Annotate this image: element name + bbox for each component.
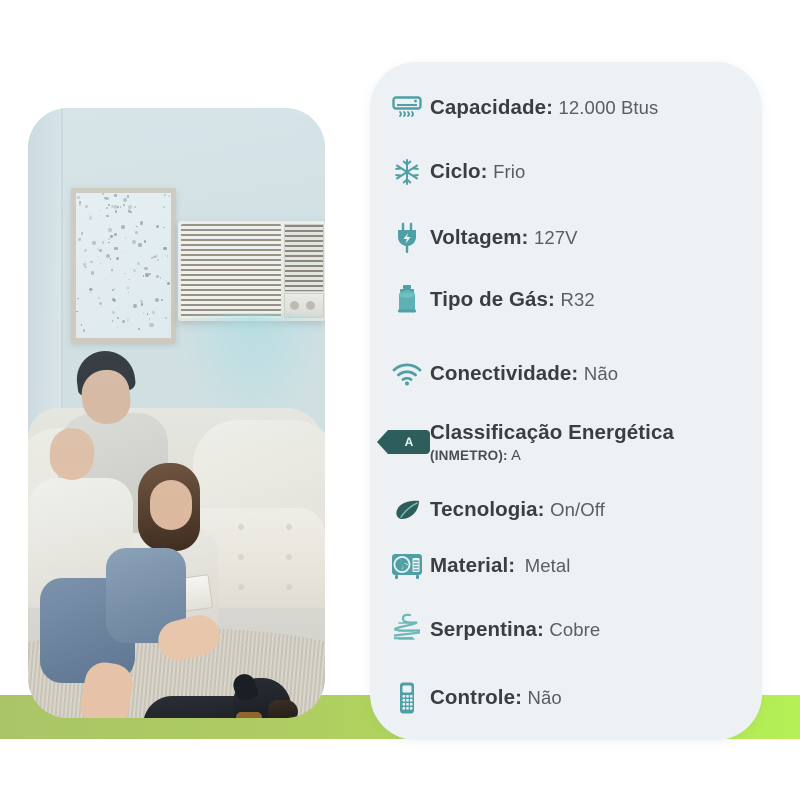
spec-text: Tipo de Gás: R32 — [430, 287, 595, 313]
dog-tan-marking — [236, 712, 262, 718]
spec-label: Ciclo: — [430, 160, 488, 183]
ac-knob-right — [306, 301, 315, 310]
spec-value: Cobre — [549, 619, 600, 640]
dog-snout — [268, 700, 298, 718]
spec-text: Conectividade: Não — [430, 361, 618, 387]
gas-cylinder-icon — [384, 280, 430, 320]
spec-subvalue: A — [511, 448, 521, 464]
power-plug-icon — [384, 218, 430, 258]
spec-sublabel-row: (INMETRO): A — [430, 447, 674, 465]
spec-row-tipo-de-gas: Tipo de Gás: R32 — [384, 280, 756, 320]
spec-label: Controle: — [430, 686, 522, 709]
specifications-list: Capacidade: 12.000 Btus — [370, 62, 762, 740]
energy-badge: A — [388, 430, 430, 454]
spec-row-conectividade: Conectividade: Não — [384, 354, 756, 394]
spec-label: Tipo de Gás: — [430, 288, 555, 311]
spec-label: Voltagem: — [430, 226, 528, 249]
spec-label: Tecnologia: — [430, 498, 545, 521]
energy-rating-badge-icon: A — [384, 428, 430, 456]
spec-text: Tecnologia: On/Off — [430, 497, 605, 523]
snowflake-icon — [384, 152, 430, 192]
spec-value: Frio — [493, 161, 525, 182]
condenser-unit-icon — [384, 546, 430, 586]
spec-row-classificacao-energetica: A Classificação Energética (INMETRO): A — [384, 420, 756, 465]
air-conditioner-icon — [384, 88, 430, 128]
spec-row-tecnologia: Tecnologia: On/Off — [384, 490, 756, 530]
spec-text: Material: Metal — [430, 553, 570, 579]
spec-value: On/Off — [550, 499, 605, 520]
coil-icon — [384, 610, 430, 650]
spec-value: Metal — [525, 555, 571, 576]
spec-label: Conectividade: — [430, 362, 578, 385]
spec-value: Não — [584, 363, 618, 384]
spec-row-material: Material: Metal — [384, 546, 756, 586]
ac-side-vent — [284, 224, 324, 292]
spec-label: Capacidade: — [430, 96, 553, 119]
spec-text: Serpentina: Cobre — [430, 617, 600, 643]
spec-row-capacidade: Capacidade: 12.000 Btus — [384, 88, 756, 128]
spec-row-voltagem: Voltagem: 127V — [384, 218, 756, 258]
spec-row-controle: Controle: Não — [384, 678, 756, 718]
spec-sublabel: (INMETRO): — [430, 448, 508, 463]
spec-label: Classificação Energética — [430, 421, 674, 444]
ac-front-grille — [181, 224, 281, 318]
leaf-icon — [384, 490, 430, 530]
spec-label: Material: — [430, 554, 515, 577]
spec-value: 12.000 Btus — [559, 97, 659, 118]
spec-text: Classificação Energética (INMETRO): A — [430, 420, 674, 465]
girl-face — [150, 480, 192, 530]
spec-value: Não — [528, 687, 562, 708]
spec-text: Controle: Não — [430, 685, 562, 711]
spec-text: Capacidade: 12.000 Btus — [430, 95, 658, 121]
product-spec-sheet: Capacidade: 12.000 Btus — [0, 0, 800, 800]
spec-label: Serpentina: — [430, 618, 544, 641]
spec-value: R32 — [561, 289, 595, 310]
spec-row-ciclo: Ciclo: Frio — [384, 152, 756, 192]
framed-picture-art — [76, 193, 171, 338]
wifi-icon — [384, 354, 430, 394]
energy-badge-letter: A — [405, 435, 414, 449]
spec-row-serpentina: Serpentina: Cobre — [384, 610, 756, 650]
ac-knob-left — [290, 301, 299, 310]
spec-text: Ciclo: Frio — [430, 159, 525, 185]
spec-text: Voltagem: 127V — [430, 225, 578, 251]
spec-value: 127V — [534, 227, 578, 248]
specifications-card: Capacidade: 12.000 Btus — [370, 62, 762, 740]
product-lifestyle-photo — [28, 108, 325, 718]
remote-control-icon — [384, 678, 430, 718]
